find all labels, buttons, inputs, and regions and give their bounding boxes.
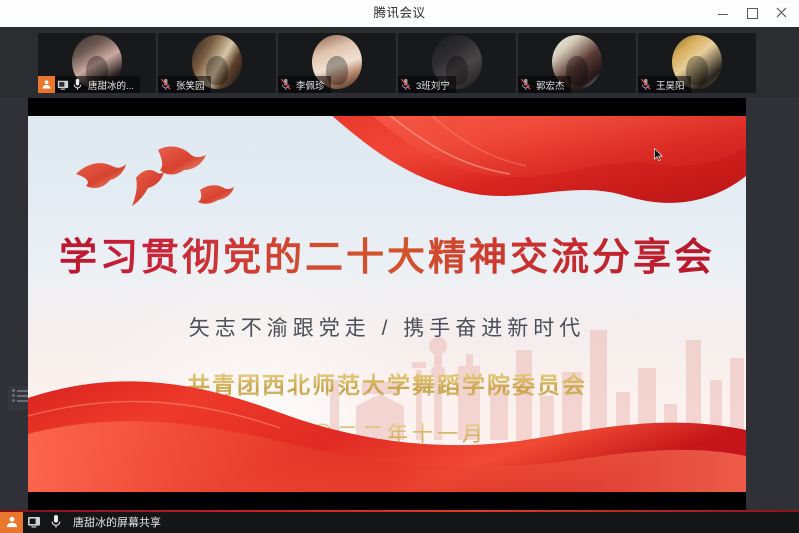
participant-tile[interactable]: 唐甜冰的... (38, 33, 156, 93)
participant-name: 3班刘宁 (413, 78, 450, 92)
screen-share-icon[interactable] (23, 510, 45, 533)
participant-namebar: 王昊阳 (638, 76, 691, 93)
mic-muted-icon (278, 76, 293, 93)
participant-namebar: 郭宏杰 (518, 76, 571, 93)
participant-name: 王昊阳 (653, 78, 685, 92)
person-icon (5, 515, 19, 529)
participant-namebar: 3班刘宁 (398, 76, 456, 93)
host-badge (0, 510, 23, 533)
sharing-indicator-line (0, 510, 799, 512)
participant-namebar: 张笑园 (158, 76, 211, 93)
mic-muted-icon (398, 76, 413, 93)
participant-filmstrip: 唐甜冰的... 张笑园 (0, 27, 799, 98)
screen-share-label: 唐甜冰的屏幕共享 (67, 514, 161, 530)
shared-screen-stage[interactable]: 学习贯彻党的二十大精神交流分享会 矢志不渝跟党走 / 携手奋进新时代 共青团西北… (28, 98, 746, 510)
bullet-icon (12, 394, 15, 397)
slide-title: 学习贯彻党的二十大精神交流分享会 (28, 226, 746, 281)
status-bar: 唐甜冰的屏幕共享 (0, 510, 799, 533)
participant-tile[interactable]: 郭宏杰 (518, 33, 636, 93)
tencent-meeting-window: 腾讯会议 (0, 0, 799, 533)
bullet-icon (12, 399, 15, 402)
participant-namebar: 李佩珍 (278, 76, 331, 93)
red-wave-icon (28, 342, 746, 492)
minimize-button[interactable] (708, 0, 738, 27)
participant-namebar: 唐甜冰的... (38, 76, 140, 93)
title-bar: 腾讯会议 (0, 0, 799, 28)
slide-subtitle: 矢志不渝跟党走 / 携手奋进新时代 (28, 312, 746, 342)
person-icon (41, 79, 52, 90)
presentation-slide: 学习贯彻党的二十大精神交流分享会 矢志不渝跟党走 / 携手奋进新时代 共青团西北… (28, 116, 746, 492)
mic-muted-icon (158, 76, 173, 93)
window-title: 腾讯会议 (0, 0, 799, 27)
participant-name: 张笑园 (173, 78, 205, 92)
mouse-cursor-icon (654, 148, 664, 162)
screen-share-icon (55, 76, 70, 93)
mic-muted-icon (638, 76, 653, 93)
mic-icon[interactable] (45, 510, 67, 533)
maximize-icon (747, 8, 758, 19)
participant-tile[interactable]: 张笑园 (158, 33, 276, 93)
participant-tile[interactable]: 李佩珍 (278, 33, 396, 93)
participant-name: 郭宏杰 (533, 78, 565, 92)
doves-icon (66, 138, 256, 218)
participant-tile[interactable]: 王昊阳 (638, 33, 756, 93)
participant-name: 唐甜冰的... (85, 78, 134, 92)
mic-icon (70, 76, 85, 93)
close-button[interactable] (766, 0, 796, 27)
participant-name: 李佩珍 (293, 78, 325, 92)
maximize-button[interactable] (737, 0, 767, 27)
participant-tiles: 唐甜冰的... 张笑园 (38, 33, 756, 93)
bullet-icon (12, 389, 15, 392)
host-badge (38, 76, 55, 93)
participant-tile[interactable]: 3班刘宁 (398, 33, 516, 93)
minimize-icon (718, 14, 728, 15)
close-icon (776, 7, 787, 18)
mic-muted-icon (518, 76, 533, 93)
